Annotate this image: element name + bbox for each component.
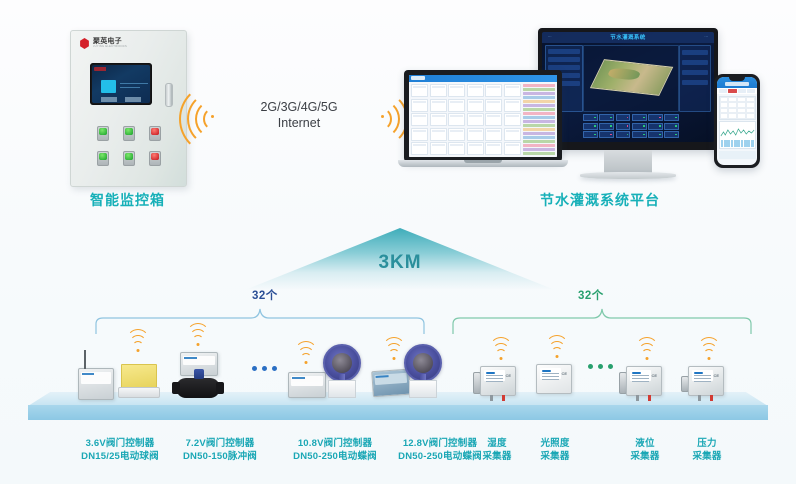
- dashboard-card: [448, 84, 465, 97]
- sensor-terminal: [636, 395, 639, 401]
- laptop-trackpad-notch: [464, 160, 502, 163]
- dashboard-card: [467, 113, 484, 126]
- phone-screen: [717, 77, 757, 165]
- chart-bar: [751, 140, 754, 147]
- caption-line2: 采集器: [520, 450, 590, 463]
- status-cell: [632, 123, 647, 130]
- status-row: [523, 128, 555, 131]
- status-cell: [664, 123, 679, 130]
- dashboard-card: [448, 142, 465, 155]
- monitor-status-grid: [583, 114, 679, 138]
- dot: [598, 364, 603, 369]
- phone-line-chart: [719, 121, 756, 149]
- dashboard-card: [467, 128, 484, 141]
- phone-app-title: [725, 82, 749, 86]
- phone-notch: [729, 77, 745, 81]
- pulse-valve-solenoid: [194, 369, 204, 379]
- sensor-terminal: [490, 395, 493, 401]
- caption-line1: 压力: [672, 437, 742, 450]
- status-cell: [583, 131, 598, 138]
- pressure-collector[interactable]: CE: [690, 368, 724, 396]
- collector-enclosure: CE: [480, 366, 516, 396]
- dashboard-card: [467, 84, 484, 97]
- dashboard-card: [467, 142, 484, 155]
- wifi-signal-icon: [697, 346, 721, 360]
- dashboard-card: [485, 113, 502, 126]
- status-cell: [583, 123, 598, 130]
- wifi-signal-icon: [489, 346, 513, 360]
- dashboard-card: [411, 128, 428, 141]
- dashboard-card: [448, 113, 465, 126]
- sensor-terminal-power: [502, 395, 505, 401]
- range-label: 3KM: [245, 252, 555, 274]
- network-label-line1: 2G/3G/4G/5G: [255, 99, 343, 115]
- controller-enclosure: [288, 372, 326, 398]
- dashboard-card: [485, 128, 502, 141]
- panel-row: [682, 50, 708, 55]
- status-row: [523, 136, 555, 139]
- indicator-lamp: [149, 151, 161, 166]
- right-group-count: 32个: [578, 287, 604, 303]
- status-cell: [632, 114, 647, 121]
- wifi-arc: [295, 341, 318, 364]
- phone-footer-panel: [719, 151, 756, 159]
- brand-subtitle: JUYING ELECTRONICS: [93, 46, 127, 49]
- status-cell: [664, 131, 679, 138]
- status-row: [523, 84, 555, 87]
- monitor-stand: [604, 150, 652, 174]
- collector-label: [630, 370, 651, 381]
- diagram-canvas: 聚英电子 JUYING ELECTRONICS 智能监控箱: [0, 0, 796, 484]
- laptop-status-list: [523, 82, 557, 157]
- sensor-terminal-power: [710, 395, 713, 401]
- panel-row: [682, 80, 708, 85]
- ce-mark: CE: [505, 373, 511, 378]
- status-row: [523, 124, 555, 127]
- wifi-signal-icon: [545, 344, 569, 358]
- status-row: [523, 112, 555, 115]
- hmi-highlight-block: [101, 80, 116, 93]
- laptop-app-header: [409, 75, 557, 82]
- laptop-card-grid: [409, 82, 523, 157]
- wifi-arc: [490, 337, 513, 360]
- table-cell: [737, 113, 746, 119]
- dashboard-card: [430, 113, 447, 126]
- antenna-rod-icon: [84, 350, 86, 369]
- dashboard-card: [448, 128, 465, 141]
- monitor-dashboard-title: 节水灌溉系统: [610, 33, 645, 41]
- brand-mark-icon: [79, 38, 90, 49]
- panel-row: [682, 60, 708, 65]
- status-row: [523, 140, 555, 143]
- dashboard-card: [504, 99, 521, 112]
- table-cell: [720, 113, 729, 119]
- status-row: [523, 120, 555, 123]
- dashboard-card: [485, 142, 502, 155]
- status-cell: [648, 123, 663, 130]
- wifi-arc: [546, 335, 569, 358]
- dashboard-card: [485, 84, 502, 97]
- dashboard-card: [467, 99, 484, 112]
- chart-bar: [744, 140, 747, 147]
- status-row: [523, 108, 555, 111]
- right-bracket-svg: [452, 308, 752, 334]
- dashboard-card: [485, 99, 502, 112]
- wifi-wave-left: [179, 83, 251, 155]
- collector-enclosure: CE: [688, 366, 724, 396]
- cabinet-hmi-screen[interactable]: [90, 63, 152, 105]
- indicator-lamp: [97, 151, 109, 166]
- indicator-lamp: [97, 126, 109, 141]
- controller-label: [291, 376, 323, 386]
- monitor-nav-left: ···: [548, 35, 552, 39]
- panel-row: [682, 70, 708, 75]
- status-row: [523, 104, 555, 107]
- status-cell: [616, 114, 631, 121]
- indicator-lamp: [123, 151, 135, 166]
- valve-controller-3v6[interactable]: [78, 368, 112, 398]
- status-cell: [616, 123, 631, 130]
- status-cell: [648, 131, 663, 138]
- phone-tab[interactable]: [738, 89, 746, 93]
- dashboard-card: [411, 113, 428, 126]
- chart-bar: [727, 140, 730, 147]
- dashboard-card: [504, 128, 521, 141]
- status-row: [523, 100, 555, 103]
- controller-enclosure: [78, 368, 114, 400]
- status-row: [523, 96, 555, 99]
- wifi-arc: [187, 323, 210, 346]
- chart-bar: [724, 140, 727, 147]
- controller-label: [81, 372, 111, 384]
- wifi-signal-icon: [294, 350, 318, 364]
- chart-bar: [734, 140, 737, 147]
- network-link-group: 2G/3G/4G/5G Internet: [205, 85, 390, 155]
- dashboard-card: [504, 84, 521, 97]
- dot: [608, 364, 613, 369]
- chart-bar: [747, 140, 750, 147]
- cabinet-indicator-lamps: [97, 126, 161, 166]
- phone-data-table: [719, 96, 756, 120]
- status-cell: [616, 131, 631, 138]
- cabinet-brand-logo: 聚英电子 JUYING ELECTRONICS: [79, 38, 127, 49]
- laptop-app-logo: [411, 76, 425, 80]
- network-label: 2G/3G/4G/5G Internet: [255, 99, 343, 131]
- wifi-arc: [698, 337, 721, 360]
- dashboard-card: [430, 142, 447, 155]
- ce-mark: CE: [651, 373, 657, 378]
- platform-device-group: ··· 节水灌溉系统 ···: [398, 28, 768, 188]
- dashboard-card: [411, 99, 428, 112]
- collector-label: [484, 370, 505, 381]
- chart-bar: [731, 140, 734, 147]
- chart-bar: [737, 140, 740, 147]
- dashboard-card: [411, 84, 428, 97]
- ce-mark: CE: [561, 371, 567, 376]
- caption-sensor-4: 压力 采集器: [672, 437, 742, 463]
- collector-label: [540, 368, 561, 379]
- caption-line1: 液位: [610, 437, 680, 450]
- smartphone-device[interactable]: [714, 74, 760, 168]
- dashboard-card: [430, 99, 447, 112]
- wifi-arc: [127, 329, 150, 352]
- hmi-line: [120, 87, 140, 88]
- dashboard-card: [504, 113, 521, 126]
- sensor-terminal-power: [648, 395, 651, 401]
- indicator-lamp: [123, 126, 135, 141]
- table-cell: [728, 113, 737, 119]
- cabinet-door-handle[interactable]: [165, 83, 173, 107]
- panel-row: [548, 49, 580, 54]
- laptop-device[interactable]: [398, 70, 568, 170]
- caption-line2: 采集器: [672, 450, 742, 463]
- liquid-level-collector[interactable]: CE: [628, 368, 662, 396]
- status-row: [523, 144, 555, 147]
- wifi-signal-icon: [126, 338, 150, 352]
- network-label-line2: Internet: [255, 115, 343, 131]
- hmi-line: [120, 83, 148, 84]
- platform-front-face: [28, 405, 768, 420]
- chart-bar: [741, 140, 744, 147]
- separator-dots-right: [588, 364, 613, 369]
- hmi-chip: [125, 97, 141, 102]
- collector-enclosure: CE: [626, 366, 662, 396]
- right-group-bracket: [452, 308, 752, 334]
- laptop-screen: [409, 75, 557, 157]
- panel-row: [548, 57, 580, 62]
- caption-sensor-2: 光照度 采集器: [520, 437, 590, 463]
- chart-bar: [721, 140, 724, 147]
- dot: [272, 366, 277, 371]
- wifi-signal-icon: [635, 346, 659, 360]
- dot: [262, 366, 267, 371]
- collector-enclosure: CE: [536, 364, 572, 394]
- dashboard-card: [430, 84, 447, 97]
- monitor-base: [580, 172, 676, 179]
- laptop-lid: [404, 70, 562, 162]
- electric-butterfly-valve-a[interactable]: [322, 344, 362, 398]
- monitor-map-panel: [583, 45, 679, 112]
- status-row: [523, 92, 555, 95]
- phone-tab[interactable]: [719, 89, 727, 93]
- controller-label: [183, 356, 215, 365]
- electric-ball-valve-dn15[interactable]: [118, 364, 158, 398]
- status-cell: [583, 114, 598, 121]
- separator-dots-left: [252, 366, 277, 371]
- table-cell: [746, 113, 755, 119]
- dot: [252, 366, 257, 371]
- monitor-nav-right: ···: [704, 35, 708, 39]
- status-row: [523, 116, 555, 119]
- dashboard-card: [504, 142, 521, 155]
- hmi-titlebar: [94, 67, 148, 71]
- dashboard-card: [411, 142, 428, 155]
- collector-label: [692, 370, 713, 381]
- pulse-valve-dn50-150[interactable]: [176, 378, 220, 398]
- dashboard-card: [430, 128, 447, 141]
- status-cell: [599, 123, 614, 130]
- status-cell: [664, 114, 679, 121]
- butterfly-base: [328, 380, 356, 398]
- hmi-chip: [101, 97, 117, 102]
- chart-bars: [721, 140, 754, 147]
- left-group-count: 32个: [252, 287, 278, 303]
- status-cell: [599, 131, 614, 138]
- smart-control-cabinet[interactable]: 聚英电子 JUYING ELECTRONICS: [70, 30, 187, 187]
- caption-line1: 光照度: [520, 437, 590, 450]
- status-cell: [599, 114, 614, 121]
- phone-tab-active[interactable]: [728, 89, 736, 93]
- dashboard-card: [448, 99, 465, 112]
- ce-mark: CE: [713, 373, 719, 378]
- laptop-app-body: [409, 82, 557, 157]
- phone-tab[interactable]: [747, 89, 755, 93]
- monitor-right-panel: [679, 45, 711, 112]
- valve-controller-10v8[interactable]: [288, 372, 324, 396]
- caption-line2: 采集器: [610, 450, 680, 463]
- hmi-display: [92, 65, 150, 103]
- status-row: [523, 152, 555, 155]
- phone-tab-bar[interactable]: [717, 88, 757, 94]
- indicator-lamp: [149, 126, 161, 141]
- status-cell: [632, 131, 647, 138]
- ball-valve-body: [118, 387, 160, 398]
- illuminance-collector[interactable]: CE: [538, 366, 572, 394]
- electric-butterfly-valve-b[interactable]: [403, 344, 443, 398]
- phone-app-header: [717, 77, 757, 88]
- status-cell: [648, 114, 663, 121]
- sensor-terminal: [698, 395, 701, 401]
- butterfly-base: [409, 380, 437, 398]
- status-row: [523, 148, 555, 151]
- wifi-arc: [636, 337, 659, 360]
- humidity-collector[interactable]: CE: [482, 368, 516, 396]
- status-row: [523, 88, 555, 91]
- status-row: [523, 132, 555, 135]
- caption-sensor-3: 液位 采集器: [610, 437, 680, 463]
- dot: [588, 364, 593, 369]
- wifi-signal-icon: [186, 332, 210, 346]
- platform-caption: 节水灌溉系统平台: [490, 190, 710, 210]
- control-box-caption: 智能监控箱: [40, 190, 215, 210]
